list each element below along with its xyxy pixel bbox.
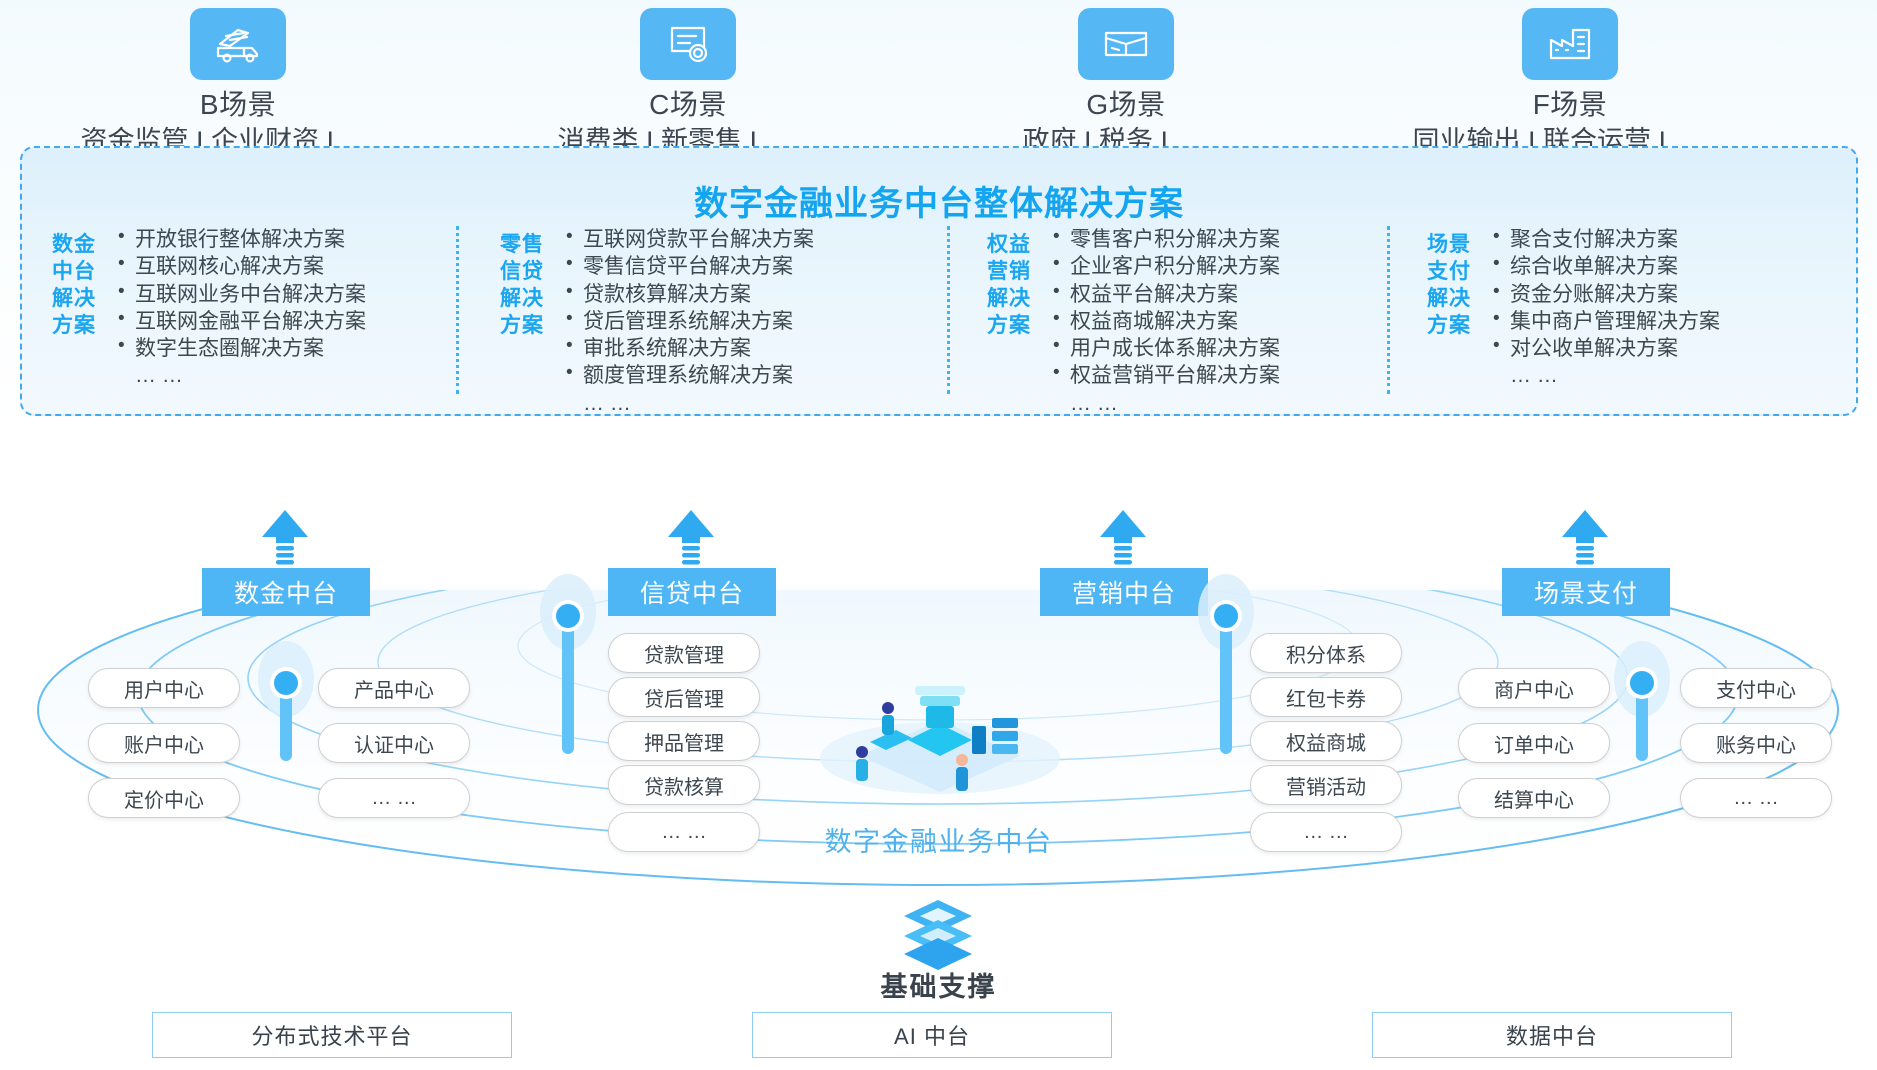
map-pin-shujin-icon [252, 635, 320, 770]
capability-pill[interactable]: 权益商城 [1250, 721, 1402, 761]
map-pin-credit-icon [534, 568, 602, 763]
column-divider [456, 226, 459, 394]
capability-pill[interactable]: 支付中心 [1680, 668, 1832, 708]
up-arrow-shujin [262, 510, 308, 568]
column-divider [947, 226, 950, 394]
solution-item: 零售客户积分解决方案 [1053, 226, 1280, 253]
solution-item: 企业客户积分解决方案 [1053, 253, 1280, 280]
center-platform-label: 数字金融业务中台 [0, 820, 1877, 859]
solution-item: 贷后管理系统解决方案 [566, 308, 814, 335]
capability-pill[interactable]: 商户中心 [1458, 668, 1610, 708]
platform-tag-credit[interactable]: 信贷中台 [608, 568, 776, 616]
solution-item-list: 互联网贷款平台解决方案 零售信贷平台解决方案 贷款核算解决方案 贷后管理系统解决… [556, 226, 814, 417]
solution-title: 数字金融业务中台整体解决方案 [22, 176, 1856, 225]
foundation-label: 基础支撑 [0, 965, 1877, 1004]
solution-item-more: … … [566, 390, 814, 417]
solution-item: 对公收单解决方案 [1493, 335, 1720, 362]
base-box-distributed-tech[interactable]: 分布式技术平台 [152, 1012, 512, 1058]
capability-pill[interactable]: 贷款核算 [608, 765, 760, 805]
solution-column-digital-finance: 数金 中台 解决 方案 开放银行整体解决方案 互联网核心解决方案 互联网业务中台… [52, 226, 442, 406]
scenario-card-b: B场景 资金监管 I 企业财资 I …… [58, 8, 418, 159]
scenario-title: G场景 [946, 86, 1306, 124]
solution-panel: 数字金融业务中台整体解决方案 数金 中台 解决 方案 开放银行整体解决方案 互联… [20, 146, 1858, 416]
capability-pill[interactable]: 贷款管理 [608, 633, 760, 673]
solution-column-name: 权益 营销 解决 方案 [987, 226, 1043, 340]
scenario-card-g: G场景 政府 I 税务 I …… [946, 8, 1306, 159]
capability-pill[interactable]: 押品管理 [608, 721, 760, 761]
solution-item: 综合收单解决方案 [1493, 253, 1720, 280]
capability-pill[interactable]: 红包卡券 [1250, 677, 1402, 717]
solution-item: 权益平台解决方案 [1053, 281, 1280, 308]
solution-item: 互联网业务中台解决方案 [118, 281, 366, 308]
scenario-card-f: F场景 同业输出 I 联合运营 I …… [1390, 8, 1750, 159]
solution-item-more: … … [1053, 390, 1280, 417]
base-box-ai-platform[interactable]: AI 中台 [752, 1012, 1112, 1058]
document-search-icon [640, 8, 736, 80]
solution-item-more: … … [118, 362, 366, 389]
capability-pill[interactable]: 账务中心 [1680, 723, 1832, 763]
platform-tag-payment[interactable]: 场景支付 [1502, 568, 1670, 616]
platform-tag-marketing[interactable]: 营销中台 [1040, 568, 1208, 616]
solution-column-scene-payment: 场景 支付 解决 方案 聚合支付解决方案 综合收单解决方案 资金分账解决方案 集… [1427, 226, 1827, 406]
capability-pill[interactable]: 认证中心 [318, 723, 470, 763]
solution-column-name: 数金 中台 解决 方案 [52, 226, 108, 340]
solution-item: 权益商城解决方案 [1053, 308, 1280, 335]
capability-pill[interactable]: 贷后管理 [608, 677, 760, 717]
center-illustration [800, 648, 1080, 808]
scenario-title: B场景 [58, 86, 418, 124]
solution-item: 额度管理系统解决方案 [566, 362, 814, 389]
factory-industry-icon [1522, 8, 1618, 80]
capability-pill[interactable]: 产品中心 [318, 668, 470, 708]
solution-item: 互联网核心解决方案 [118, 253, 366, 280]
solution-item: 权益营销平台解决方案 [1053, 362, 1280, 389]
solution-item: 集中商户管理解决方案 [1493, 308, 1720, 335]
scenario-title: C场景 [508, 86, 868, 124]
solution-item: 用户成长体系解决方案 [1053, 335, 1280, 362]
solution-item: 数字生态圈解决方案 [118, 335, 366, 362]
government-building-icon [1078, 8, 1174, 80]
solution-column-rights-marketing: 权益 营销 解决 方案 零售客户积分解决方案 企业客户积分解决方案 权益平台解决… [987, 226, 1397, 406]
solution-item: 互联网贷款平台解决方案 [566, 226, 814, 253]
solution-column-name: 场景 支付 解决 方案 [1427, 226, 1483, 340]
capability-pill[interactable]: 营销活动 [1250, 765, 1402, 805]
solution-item: 审批系统解决方案 [566, 335, 814, 362]
truck-logistics-icon [190, 8, 286, 80]
capability-pill[interactable]: 账户中心 [88, 723, 240, 763]
solution-item: 互联网金融平台解决方案 [118, 308, 366, 335]
map-pin-payment-icon [1608, 635, 1676, 770]
capability-pill[interactable]: 积分体系 [1250, 633, 1402, 673]
solution-item: 开放银行整体解决方案 [118, 226, 366, 253]
solution-item: 聚合支付解决方案 [1493, 226, 1720, 253]
up-arrow-marketing [1100, 510, 1146, 568]
capability-pill[interactable]: 定价中心 [88, 778, 240, 818]
capability-pill-more[interactable]: … … [1680, 778, 1832, 818]
up-arrow-credit [668, 510, 714, 568]
solution-item-list: 聚合支付解决方案 综合收单解决方案 资金分账解决方案 集中商户管理解决方案 对公… [1483, 226, 1720, 390]
capability-pill-more[interactable]: … … [318, 778, 470, 818]
capability-pill[interactable]: 订单中心 [1458, 723, 1610, 763]
diagram-root: B场景 资金监管 I 企业财资 I …… C场景 消费类 I 新零售 I …… … [0, 0, 1877, 1070]
solution-column-retail-credit: 零售 信贷 解决 方案 互联网贷款平台解决方案 零售信贷平台解决方案 贷款核算解… [500, 226, 900, 406]
solution-column-name: 零售 信贷 解决 方案 [500, 226, 556, 340]
platform-tag-shujin[interactable]: 数金中台 [202, 568, 370, 616]
solution-item: 资金分账解决方案 [1493, 281, 1720, 308]
solution-item-list: 开放银行整体解决方案 互联网核心解决方案 互联网业务中台解决方案 互联网金融平台… [108, 226, 366, 390]
scenario-title: F场景 [1390, 86, 1750, 124]
solution-item: 贷款核算解决方案 [566, 281, 814, 308]
layers-stack-icon [868, 898, 1008, 970]
solution-item-list: 零售客户积分解决方案 企业客户积分解决方案 权益平台解决方案 权益商城解决方案 … [1043, 226, 1280, 417]
solution-item: 零售信贷平台解决方案 [566, 253, 814, 280]
solution-item-more: … … [1493, 362, 1720, 389]
capability-pill[interactable]: 结算中心 [1458, 778, 1610, 818]
column-divider [1387, 226, 1390, 394]
base-box-data-platform[interactable]: 数据中台 [1372, 1012, 1732, 1058]
up-arrow-payment [1562, 510, 1608, 568]
map-pin-marketing-icon [1192, 568, 1260, 763]
capability-pill[interactable]: 用户中心 [88, 668, 240, 708]
scenario-card-c: C场景 消费类 I 新零售 I …… [508, 8, 868, 159]
